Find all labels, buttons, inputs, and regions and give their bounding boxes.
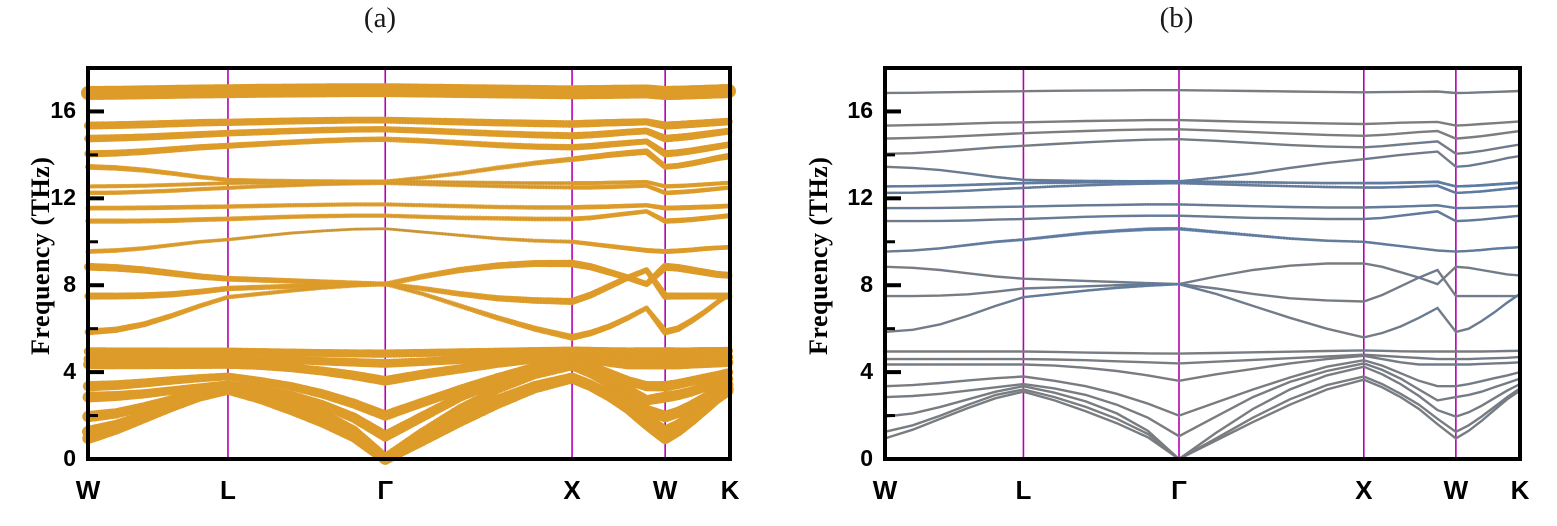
band-marker (421, 230, 424, 233)
panel-a: (a) Frequency (THz) 0481216WLΓXWK (0, 0, 780, 526)
band-marker (409, 229, 412, 232)
band-marker (398, 228, 401, 231)
band-marker (412, 230, 415, 233)
band-marker (407, 229, 410, 232)
band-marker (418, 230, 421, 233)
band-marker (384, 227, 387, 230)
band-marker (401, 229, 404, 232)
band-marker (389, 228, 392, 231)
band-marker (404, 229, 407, 232)
band-marker (395, 228, 398, 231)
panel-a-label: (a) (0, 2, 770, 35)
band-marker (387, 227, 390, 230)
phonon-band-figure: (a) Frequency (THz) 0481216WLΓXWK (b) Fr… (0, 0, 1557, 526)
band-marker (392, 228, 395, 231)
band-marker (424, 231, 427, 234)
panel-a-plot (0, 0, 780, 526)
